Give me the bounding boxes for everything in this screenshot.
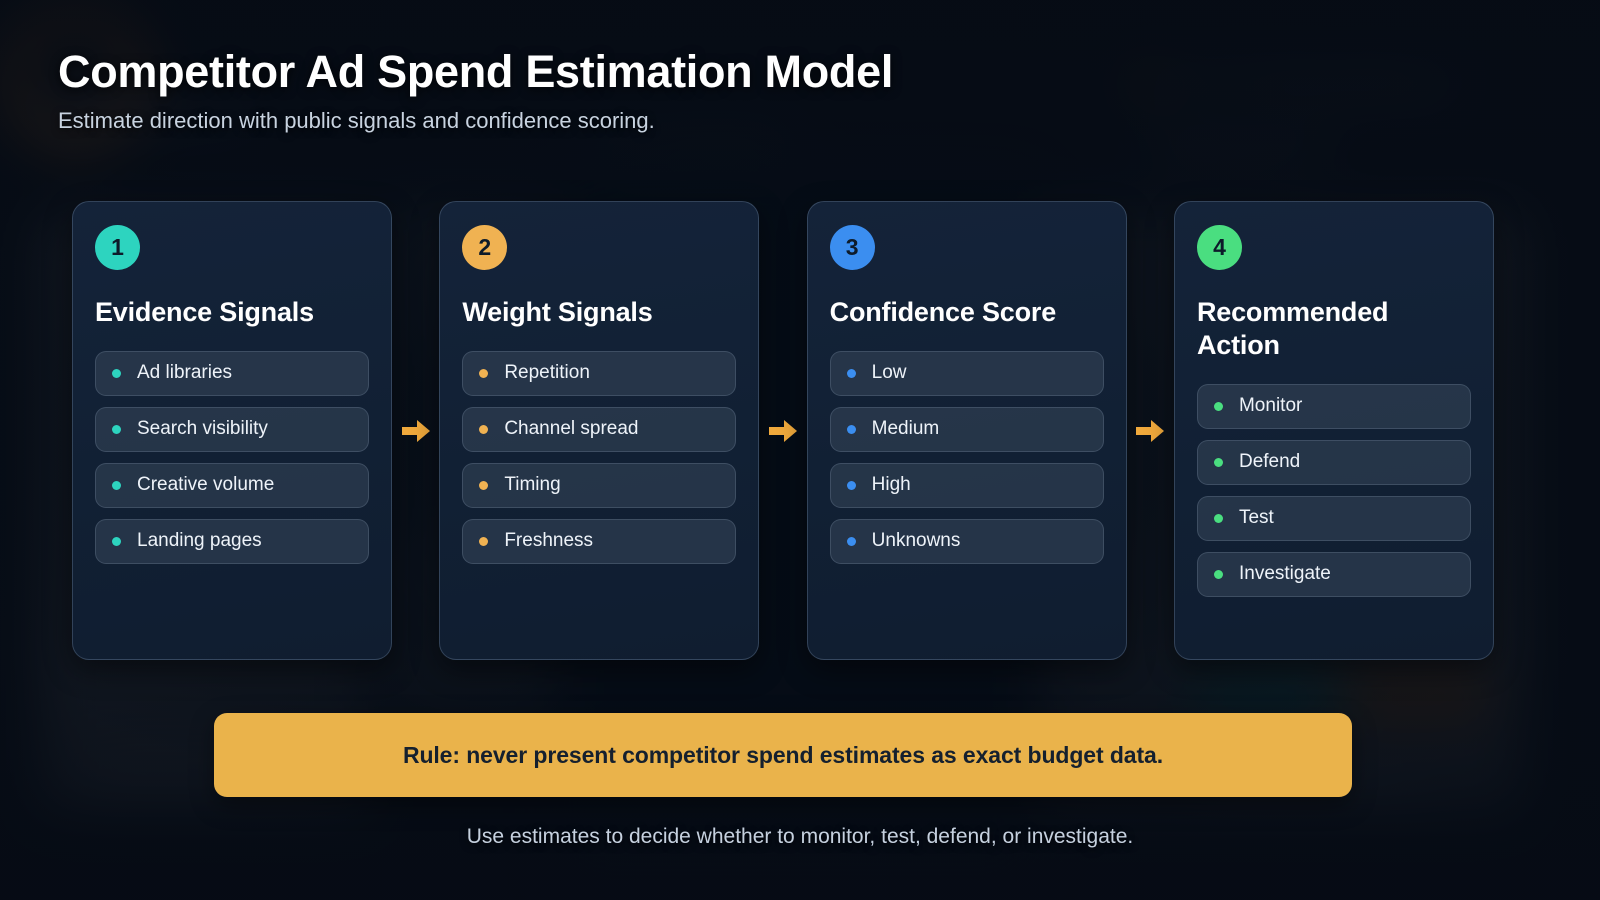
list-item-label: Creative volume [137,474,274,496]
bullet-dot-icon [112,425,121,434]
bullet-dot-icon [1214,402,1223,411]
list-item-label: Defend [1239,451,1300,473]
step-card-4[interactable]: 4Recommended ActionMonitorDefendTestInve… [1174,201,1494,660]
arrow-right-icon [1135,417,1165,445]
arrow-right-icon [401,417,431,445]
list-item-label: Investigate [1239,563,1331,585]
list-item[interactable]: Search visibility [95,407,369,452]
step-item-list: MonitorDefendTestInvestigate [1197,384,1471,597]
header: Competitor Ad Spend Estimation Model Est… [58,48,893,134]
bullet-dot-icon [1214,570,1223,579]
list-item[interactable]: Timing [462,463,736,508]
list-item[interactable]: Defend [1197,440,1471,485]
page-title: Competitor Ad Spend Estimation Model [58,48,893,95]
list-item-label: Search visibility [137,418,268,440]
bullet-dot-icon [847,369,856,378]
step-item-list: Ad librariesSearch visibilityCreative vo… [95,351,369,564]
rule-banner: Rule: never present competitor spend est… [214,713,1352,797]
list-item[interactable]: Test [1197,496,1471,541]
step-card-title: Weight Signals [462,296,736,329]
bullet-dot-icon [1214,458,1223,467]
step-card-2[interactable]: 2Weight SignalsRepetitionChannel spreadT… [439,201,759,660]
list-item-label: High [872,474,911,496]
list-item[interactable]: Ad libraries [95,351,369,396]
bullet-dot-icon [847,537,856,546]
list-item[interactable]: Medium [830,407,1104,452]
step-card-3[interactable]: 3Confidence ScoreLowMediumHighUnknowns [807,201,1127,660]
list-item[interactable]: Creative volume [95,463,369,508]
list-item-label: Timing [504,474,560,496]
bullet-dot-icon [479,481,488,490]
step-card-1[interactable]: 1Evidence SignalsAd librariesSearch visi… [72,201,392,660]
rule-banner-text: Rule: never present competitor spend est… [403,742,1163,769]
step-connector-1 [392,201,439,660]
step-badge-4: 4 [1197,225,1242,270]
step-connector-2 [759,201,806,660]
bullet-dot-icon [847,481,856,490]
bullet-dot-icon [1214,514,1223,523]
list-item-label: Test [1239,507,1274,529]
slide-root: SIGNALS SCORING ACTIONABLE INSIGHT Compe… [0,0,1600,900]
step-badge-1: 1 [95,225,140,270]
bullet-dot-icon [112,481,121,490]
list-item[interactable]: Channel spread [462,407,736,452]
list-item-label: Landing pages [137,530,262,552]
step-item-list: LowMediumHighUnknowns [830,351,1104,564]
step-connector-3 [1127,201,1174,660]
step-card-title: Confidence Score [830,296,1104,329]
bullet-dot-icon [112,537,121,546]
list-item-label: Monitor [1239,395,1302,417]
step-card-title: Recommended Action [1197,296,1471,362]
list-item[interactable]: Unknowns [830,519,1104,564]
bullet-dot-icon [112,369,121,378]
footer-note: Use estimates to decide whether to monit… [0,825,1600,849]
list-item-label: Ad libraries [137,362,232,384]
bullet-dot-icon [479,425,488,434]
list-item[interactable]: Low [830,351,1104,396]
step-badge-3: 3 [830,225,875,270]
list-item-label: Repetition [504,362,590,384]
list-item[interactable]: High [830,463,1104,508]
list-item-label: Freshness [504,530,593,552]
list-item[interactable]: Freshness [462,519,736,564]
list-item[interactable]: Investigate [1197,552,1471,597]
list-item-label: Medium [872,418,940,440]
arrow-right-icon [768,417,798,445]
bullet-dot-icon [479,537,488,546]
list-item-label: Channel spread [504,418,638,440]
process-step-cards: 1Evidence SignalsAd librariesSearch visi… [72,201,1494,660]
step-card-title: Evidence Signals [95,296,369,329]
page-subtitle: Estimate direction with public signals a… [58,108,893,134]
step-badge-2: 2 [462,225,507,270]
list-item[interactable]: Repetition [462,351,736,396]
list-item[interactable]: Monitor [1197,384,1471,429]
bullet-dot-icon [479,369,488,378]
list-item-label: Unknowns [872,530,961,552]
list-item-label: Low [872,362,907,384]
list-item[interactable]: Landing pages [95,519,369,564]
bullet-dot-icon [847,425,856,434]
step-item-list: RepetitionChannel spreadTimingFreshness [462,351,736,564]
